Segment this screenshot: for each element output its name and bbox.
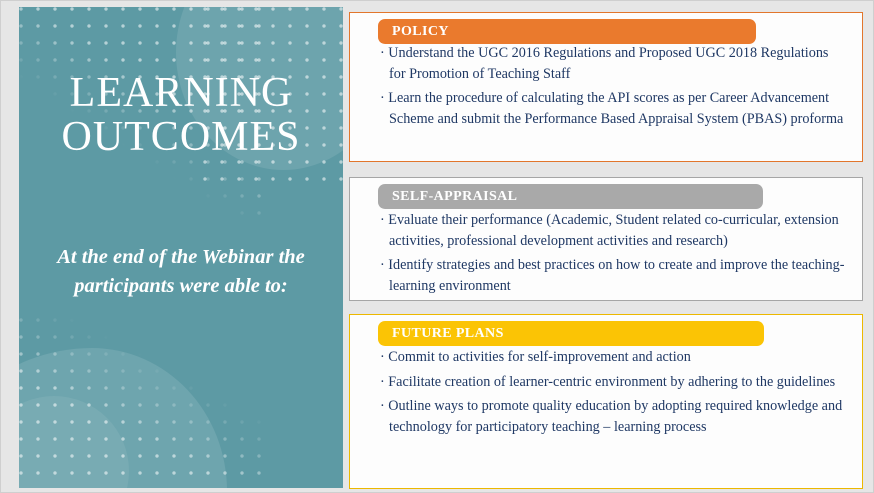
decorative-blob-bottom-left: [19, 348, 227, 488]
list-item: · Identify strategies and best practices…: [380, 255, 846, 296]
list-item: · Evaluate their performance (Academic, …: [380, 210, 846, 251]
list-item: · Facilitate creation of learner-centric…: [380, 372, 846, 393]
card-future-plans: FUTURE PLANS · Commit to activities for …: [349, 314, 863, 489]
list-item: · Understand the UGC 2016 Regulations an…: [380, 43, 846, 84]
card-self-appraisal-header: SELF-APPRAISAL: [378, 184, 763, 209]
page-title-line-1: LEARNING: [19, 71, 343, 115]
content-cards-column: POLICY · Understand the UGC 2016 Regulat…: [349, 1, 865, 493]
page-title-line-2: OUTCOMES: [19, 115, 343, 159]
dot-pattern-bottom-left-icon: [19, 318, 269, 488]
slide-canvas: LEARNING OUTCOMES At the end of the Webi…: [0, 0, 874, 493]
card-policy: POLICY · Understand the UGC 2016 Regulat…: [349, 12, 863, 162]
list-item: · Learn the procedure of calculating the…: [380, 88, 846, 129]
card-policy-header: POLICY: [378, 19, 756, 44]
list-item: · Outline ways to promote quality educat…: [380, 396, 846, 437]
page-title: LEARNING OUTCOMES: [19, 71, 343, 159]
list-item: · Commit to activities for self-improvem…: [380, 347, 846, 368]
card-self-appraisal: SELF-APPRAISAL · Evaluate their performa…: [349, 177, 863, 301]
left-title-panel: LEARNING OUTCOMES At the end of the Webi…: [19, 7, 343, 488]
decorative-circle-bottom-left: [19, 396, 129, 488]
card-future-plans-header: FUTURE PLANS: [378, 321, 764, 346]
page-subtitle: At the end of the Webinar the participan…: [37, 243, 325, 301]
